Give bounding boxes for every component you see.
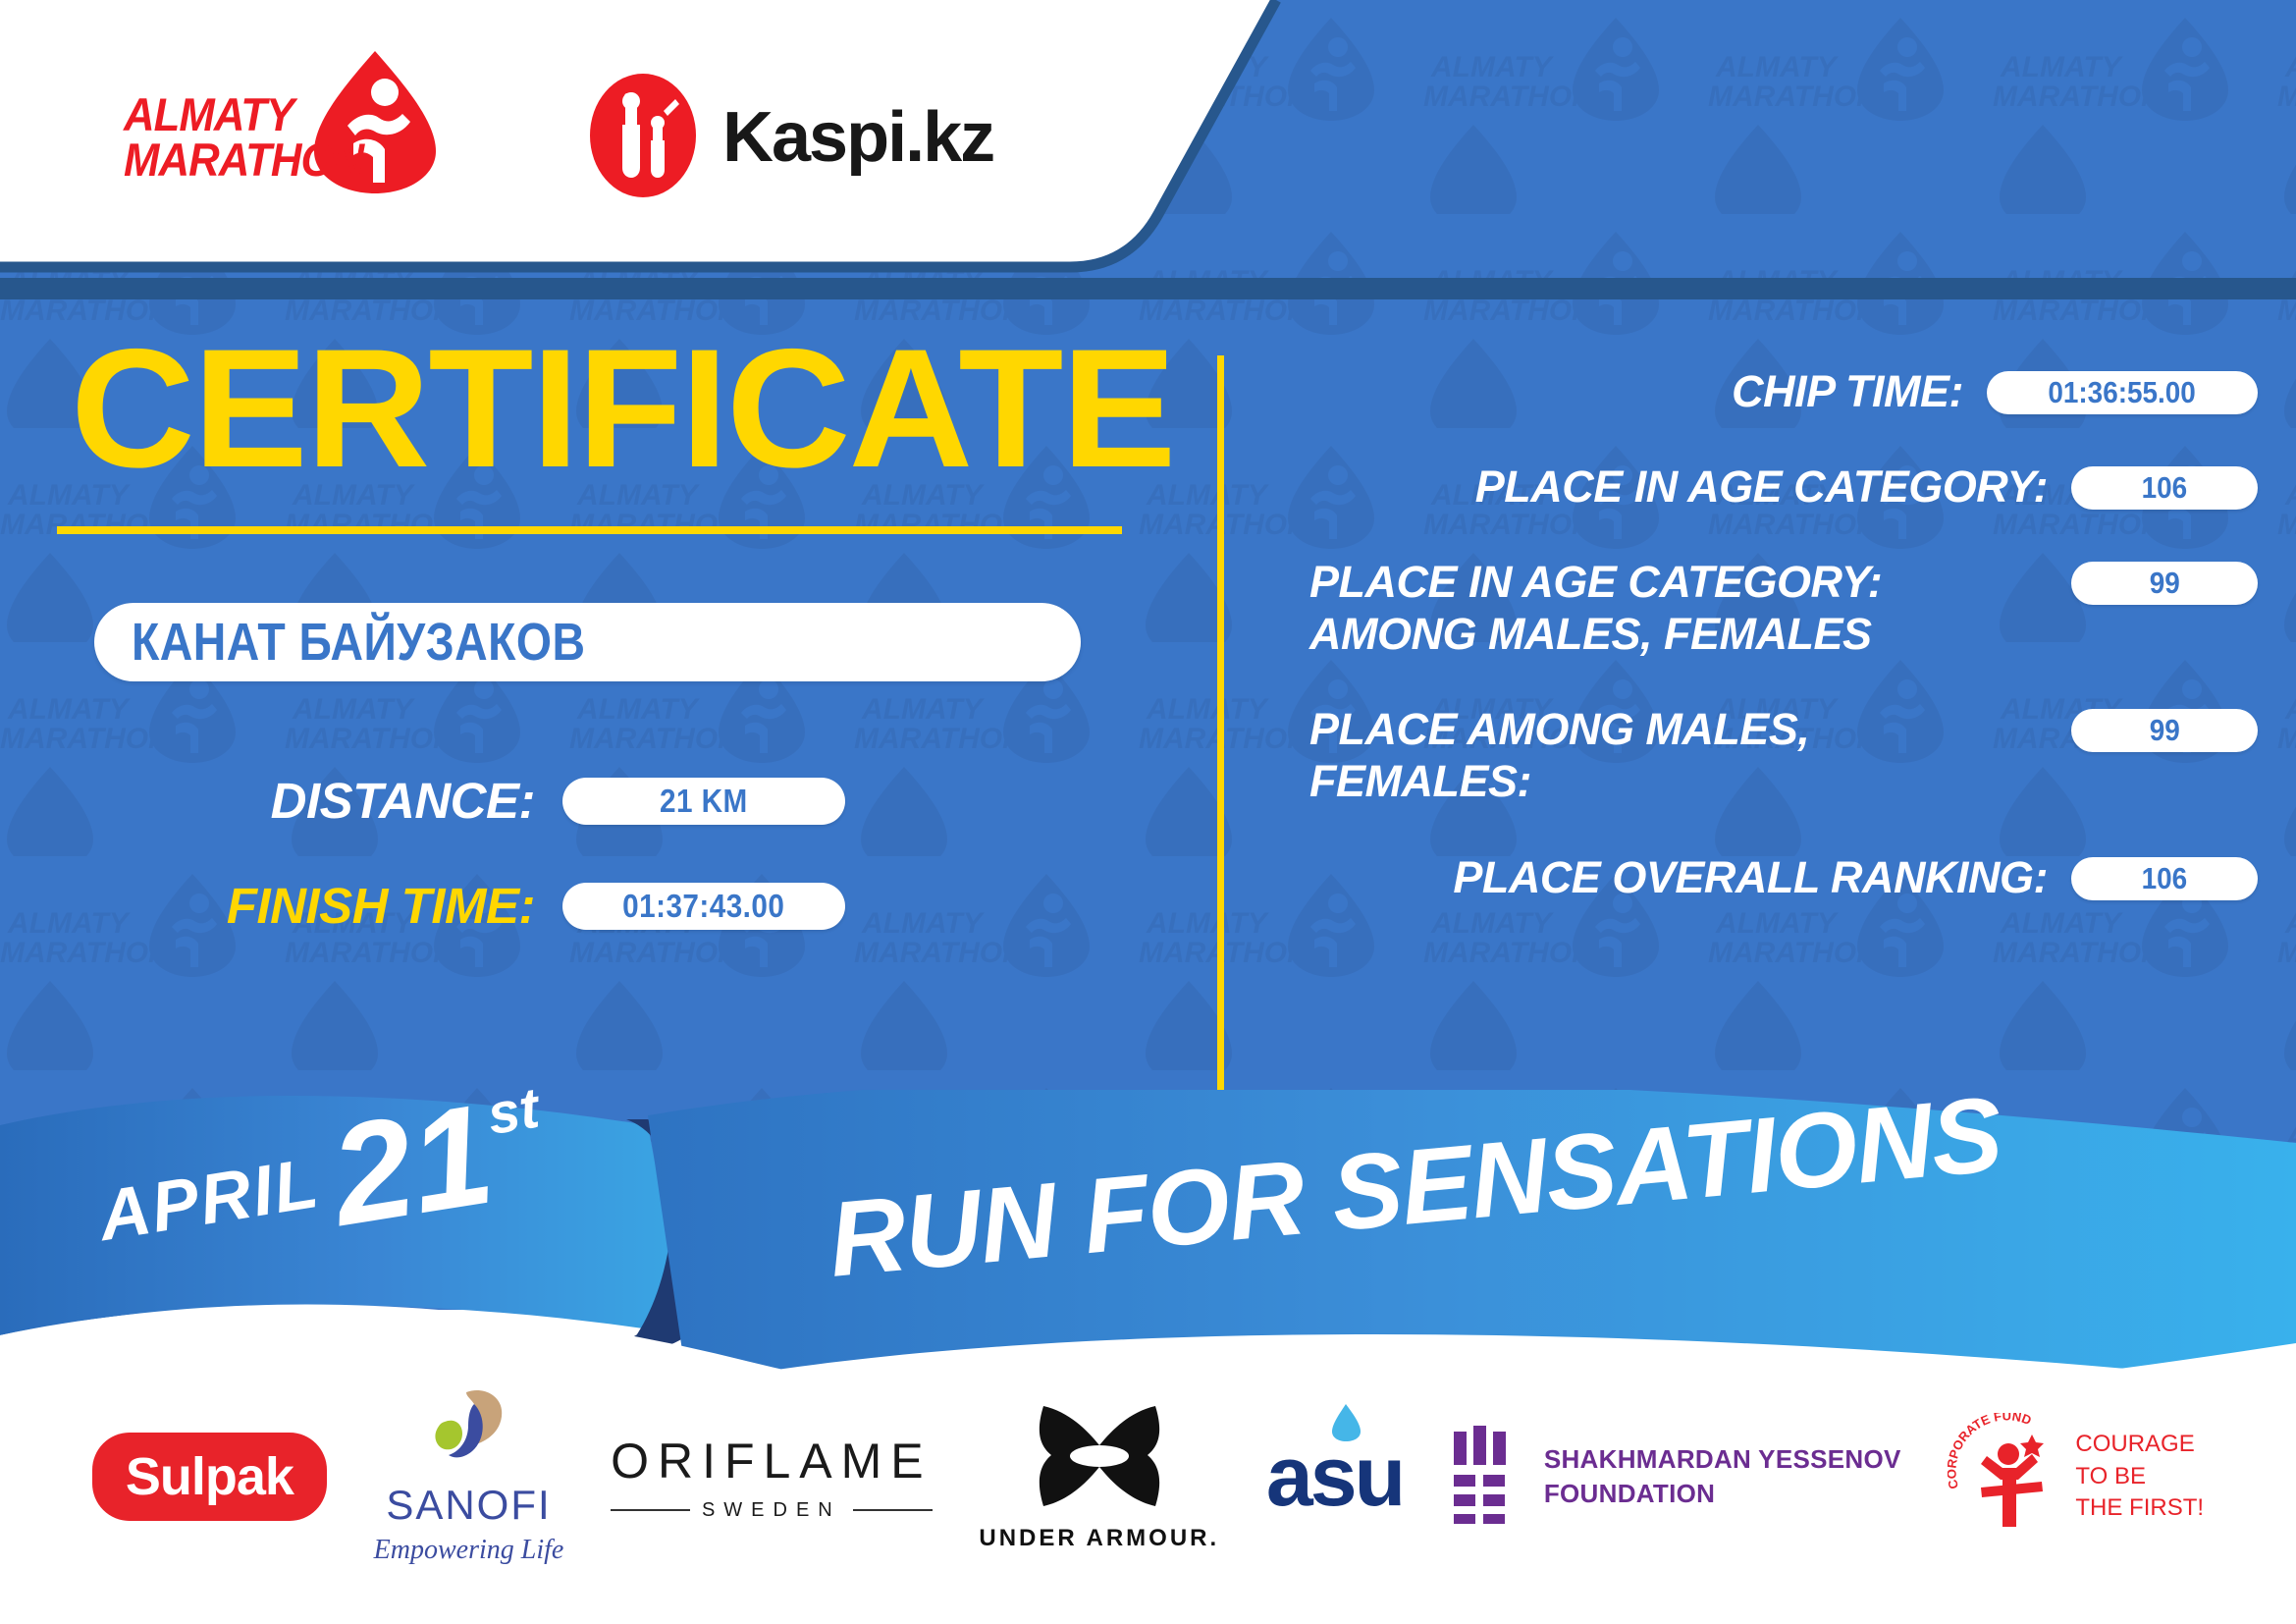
yessenov-bars-icon [1450, 1426, 1522, 1529]
left-column: CERTIFICATE КАНАТ БАЙУЗАКОВ DISTANCE:21 … [0, 324, 1158, 982]
courage-fund-wordmark: COURAGE TO BE THE FIRST! [2075, 1429, 2204, 1524]
sponsor-logo-under-armour[interactable]: UNDER ARMOUR. [979, 1402, 1219, 1552]
kaspi-person-icon [585, 72, 701, 204]
left-results-list: DISTANCE:21 KMFINISH TIME:01:37:43.00 [0, 772, 1158, 935]
right-result-label-line1: PLACE AMONG MALES, [1309, 703, 2048, 755]
right-result-value: 99 [2149, 566, 2179, 601]
right-result-value-field: 01:36:55.00 [1987, 371, 2258, 414]
left-result-label: DISTANCE: [0, 772, 562, 830]
under-armour-icon [1026, 1402, 1173, 1515]
sponsor-logo-asu[interactable]: asu [1266, 1429, 1403, 1526]
right-result-label-line1: PLACE IN AGE CATEGORY: [1309, 556, 2048, 608]
right-result-value: 106 [2142, 861, 2188, 896]
kaspi-logo[interactable]: Kaspi.kz [585, 72, 993, 204]
right-result-row: CHIP TIME:01:36:55.00 [1276, 365, 2258, 417]
right-result-label: PLACE AMONG MALES,FEMALES: [1276, 703, 2071, 807]
oriflame-rule-right [853, 1509, 933, 1511]
yessenov-wordmark: SHAKHMARDAN YESSENOV FOUNDATION [1544, 1442, 1901, 1511]
left-result-value: 01:37:43.00 [622, 888, 784, 925]
under-armour-wordmark: UNDER ARMOUR. [979, 1525, 1219, 1552]
right-result-label-line2: FEMALES: [1309, 755, 2048, 807]
right-result-value-field: 106 [2071, 466, 2258, 510]
athlete-name-value: КАНАТ БАЙУЗАКОВ [132, 612, 585, 673]
right-result-value: 106 [2142, 470, 2188, 506]
header-logos: ALMATY MARATHON Kaspi.kz [0, 0, 1158, 275]
event-day: 21 [325, 1096, 499, 1233]
right-result-row: PLACE IN AGE CATEGORY:AMONG MALES, FEMAL… [1276, 556, 2258, 660]
courage-line3: THE FIRST! [2075, 1492, 2204, 1524]
oriflame-sub: SWEDEN [611, 1499, 933, 1522]
oriflame-country: SWEDEN [690, 1499, 853, 1522]
event-day-suffix: st [483, 1075, 543, 1148]
left-result-value: 21 KM [660, 783, 748, 820]
right-result-value: 99 [2149, 713, 2179, 748]
sponsor-logo-oriflame[interactable]: ORIFLAME SWEDEN [611, 1433, 933, 1522]
almaty-marathon-line1: ALMATY [124, 92, 352, 137]
sponsor-logos: Sulpak SANOFI Empowering Life ORIFLAME S… [0, 1329, 2296, 1624]
almaty-marathon-wordmark: ALMATY MARATHON [124, 92, 352, 183]
event-month: APRIL [93, 1143, 325, 1257]
courage-line2: TO BE [2075, 1461, 2204, 1492]
certificate-canvas: ALMATY MARATHON Kaspi.kz CERTIFICATE [0, 0, 2296, 1624]
right-result-row: PLACE OVERALL RANKING:106 [1276, 851, 2258, 903]
right-results-list: CHIP TIME:01:36:55.00PLACE IN AGE CATEGO… [1276, 365, 2258, 947]
page-title: CERTIFICATE [71, 324, 1180, 493]
yessenov-line1: SHAKHMARDAN YESSENOV [1544, 1442, 1901, 1477]
sanofi-wordmark: SANOFI [386, 1482, 551, 1529]
right-result-row: PLACE AMONG MALES,FEMALES:99 [1276, 703, 2258, 807]
kaspi-wordmark: Kaspi.kz [722, 97, 993, 178]
column-divider [1217, 355, 1224, 1097]
right-result-value-field: 99 [2071, 562, 2258, 605]
sanofi-mark-icon [421, 1388, 515, 1478]
almaty-marathon-line2: MARATHON [124, 137, 352, 183]
right-result-label: PLACE IN AGE CATEGORY: [1276, 460, 2071, 513]
left-result-label: FINISH TIME: [0, 877, 562, 935]
title-underline [57, 526, 1122, 534]
right-result-label: PLACE OVERALL RANKING: [1276, 851, 2071, 903]
right-result-value: 01:36:55.00 [2049, 375, 2196, 410]
asu-drop-icon [1329, 1403, 1362, 1447]
right-result-value-field: 106 [2071, 857, 2258, 900]
oriflame-wordmark: ORIFLAME [611, 1433, 933, 1489]
oriflame-rule-left [611, 1509, 690, 1511]
left-result-row: FINISH TIME:01:37:43.00 [0, 877, 1158, 935]
right-result-label: CHIP TIME: [1276, 365, 1987, 417]
svg-text:CORPORATE FUND: CORPORATE FUND [1948, 1413, 2034, 1490]
yessenov-line2: FOUNDATION [1544, 1477, 1901, 1511]
sponsor-logo-courage-fund[interactable]: CORPORATE FUND COURAGE TO BE THE FIRST! [1948, 1413, 2204, 1542]
right-result-label-line2: AMONG MALES, FEMALES [1309, 608, 2048, 660]
sponsor-logo-sulpak[interactable]: Sulpak [92, 1433, 327, 1521]
sanofi-tagline: Empowering Life [374, 1535, 564, 1566]
right-result-row: PLACE IN AGE CATEGORY:106 [1276, 460, 2258, 513]
left-result-row: DISTANCE:21 KM [0, 772, 1158, 830]
right-result-label: PLACE IN AGE CATEGORY:AMONG MALES, FEMAL… [1276, 556, 2071, 660]
almaty-marathon-logo[interactable]: ALMATY MARATHON [124, 49, 448, 226]
sponsor-logo-yessenov-foundation[interactable]: SHAKHMARDAN YESSENOV FOUNDATION [1450, 1426, 1901, 1529]
left-result-value-field: 01:37:43.00 [562, 883, 845, 930]
courage-line1: COURAGE [2075, 1429, 2204, 1460]
sulpak-wordmark: Sulpak [126, 1446, 294, 1507]
sponsor-logo-sanofi[interactable]: SANOFI Empowering Life [374, 1388, 564, 1566]
courage-fund-person-icon: CORPORATE FUND [1948, 1413, 2063, 1542]
athlete-name-field: КАНАТ БАЙУЗАКОВ [94, 603, 1081, 681]
left-result-value-field: 21 KM [562, 778, 845, 825]
right-result-value-field: 99 [2071, 709, 2258, 752]
